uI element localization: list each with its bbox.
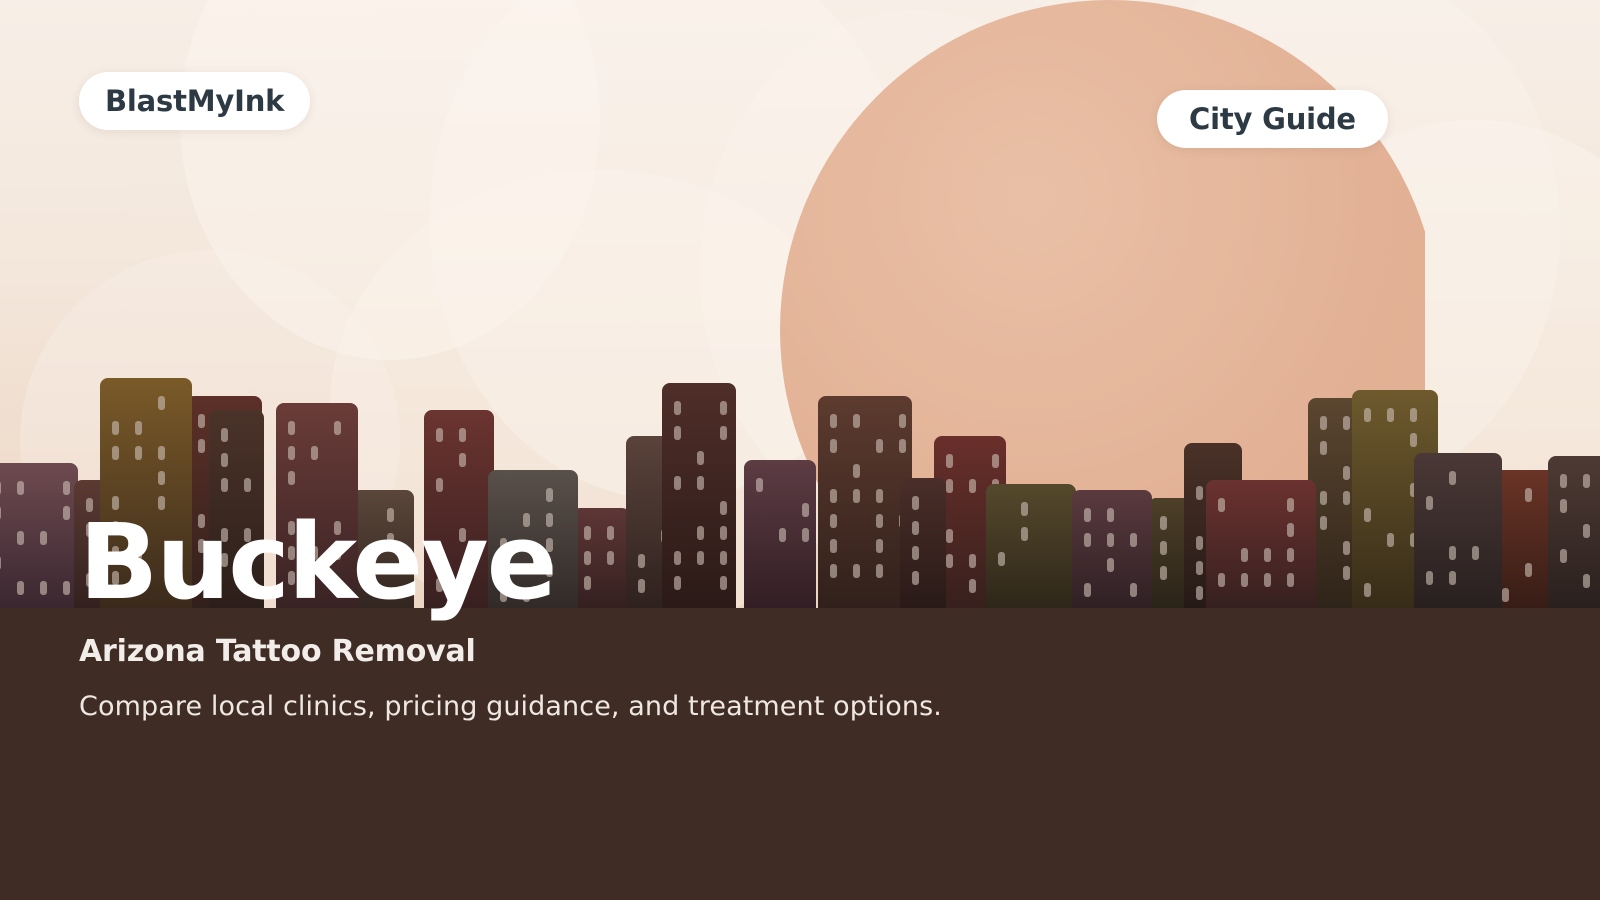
building-window bbox=[63, 481, 70, 495]
building-window bbox=[1426, 496, 1433, 510]
building-window bbox=[946, 454, 953, 468]
building-window bbox=[288, 421, 295, 435]
building-window bbox=[135, 421, 142, 435]
building-window bbox=[946, 479, 953, 493]
building-window bbox=[1449, 571, 1456, 585]
building-window bbox=[288, 471, 295, 485]
building-window bbox=[720, 401, 727, 415]
city-guide-hero-banner: BlastMyInk City Guide Buckeye Arizona Ta… bbox=[0, 0, 1600, 900]
building-window bbox=[1410, 408, 1417, 422]
building-window bbox=[459, 428, 466, 442]
building-window bbox=[1472, 546, 1479, 560]
page-title: Buckeye bbox=[79, 510, 1179, 614]
building-window bbox=[992, 454, 999, 468]
building-window bbox=[459, 453, 466, 467]
hero-text-block: Buckeye Arizona Tattoo Removal Compare l… bbox=[79, 510, 1179, 722]
building-window bbox=[969, 479, 976, 493]
building-window bbox=[1583, 524, 1590, 538]
building-window bbox=[697, 476, 704, 490]
building-window bbox=[853, 489, 860, 503]
building-window bbox=[135, 446, 142, 460]
city-guide-badge[interactable]: City Guide bbox=[1157, 90, 1388, 148]
building-window bbox=[311, 446, 318, 460]
building-window bbox=[1387, 533, 1394, 547]
building-window bbox=[830, 439, 837, 453]
building-window bbox=[1364, 408, 1371, 422]
building-window bbox=[1583, 474, 1590, 488]
building-window bbox=[112, 421, 119, 435]
building-window bbox=[436, 428, 443, 442]
building-window bbox=[697, 451, 704, 465]
building-window bbox=[17, 531, 24, 545]
building-window bbox=[1426, 571, 1433, 585]
building-window bbox=[1583, 574, 1590, 588]
building-window bbox=[1320, 491, 1327, 505]
building-window bbox=[1196, 536, 1203, 550]
building-window bbox=[853, 414, 860, 428]
building-window bbox=[1410, 433, 1417, 447]
building-window bbox=[1287, 498, 1294, 512]
building bbox=[0, 463, 78, 608]
building-window bbox=[436, 478, 443, 492]
building-window bbox=[756, 478, 763, 492]
building-window bbox=[198, 439, 205, 453]
building-window bbox=[1560, 549, 1567, 563]
building-window bbox=[1525, 488, 1532, 502]
building-window bbox=[830, 414, 837, 428]
building-window bbox=[1287, 523, 1294, 537]
building-window bbox=[674, 401, 681, 415]
building-window bbox=[912, 496, 919, 510]
building-window bbox=[899, 439, 906, 453]
building bbox=[1414, 453, 1502, 608]
building-window bbox=[1560, 499, 1567, 513]
building-window bbox=[1502, 588, 1509, 602]
brand-name-label: BlastMyInk bbox=[105, 84, 284, 118]
building-window bbox=[899, 414, 906, 428]
building-window bbox=[158, 446, 165, 460]
building-window bbox=[876, 439, 883, 453]
building-window bbox=[221, 478, 228, 492]
building-window bbox=[1241, 548, 1248, 562]
building-window bbox=[674, 476, 681, 490]
building-window bbox=[198, 414, 205, 428]
building-window bbox=[112, 446, 119, 460]
building-window bbox=[853, 464, 860, 478]
building-window bbox=[876, 489, 883, 503]
region-subtitle: Arizona Tattoo Removal bbox=[79, 634, 1179, 669]
building-window bbox=[0, 556, 1, 570]
building-window bbox=[1218, 573, 1225, 587]
brand-logo-badge[interactable]: BlastMyInk bbox=[79, 72, 310, 130]
building bbox=[1548, 456, 1600, 608]
building-window bbox=[1343, 466, 1350, 480]
building-window bbox=[546, 488, 553, 502]
building-window bbox=[158, 471, 165, 485]
building-window bbox=[1196, 586, 1203, 600]
building-window bbox=[1560, 474, 1567, 488]
building-window bbox=[674, 426, 681, 440]
building-window bbox=[1241, 573, 1248, 587]
building-window bbox=[1364, 583, 1371, 597]
building-window bbox=[1449, 546, 1456, 560]
building-window bbox=[720, 426, 727, 440]
building-window bbox=[0, 506, 1, 520]
building-window bbox=[1343, 416, 1350, 430]
building-window bbox=[1343, 541, 1350, 555]
building-window bbox=[830, 489, 837, 503]
building-window bbox=[221, 453, 228, 467]
building-window bbox=[1264, 573, 1271, 587]
building-window bbox=[1196, 486, 1203, 500]
building-window bbox=[1287, 548, 1294, 562]
building-window bbox=[1525, 563, 1532, 577]
building-window bbox=[334, 421, 341, 435]
building-window bbox=[221, 428, 228, 442]
building-window bbox=[158, 396, 165, 410]
building-window bbox=[244, 478, 251, 492]
building-window bbox=[1320, 416, 1327, 430]
building-window bbox=[1387, 408, 1394, 422]
building-window bbox=[1343, 566, 1350, 580]
building-window bbox=[40, 581, 47, 595]
building bbox=[1206, 480, 1316, 608]
building-window bbox=[1264, 548, 1271, 562]
building-window bbox=[0, 481, 1, 495]
building-window bbox=[1320, 516, 1327, 530]
building-window bbox=[63, 506, 70, 520]
building-window bbox=[1449, 471, 1456, 485]
building-window bbox=[17, 581, 24, 595]
building-window bbox=[1196, 561, 1203, 575]
building-window bbox=[288, 446, 295, 460]
building-window bbox=[1320, 441, 1327, 455]
hero-tagline: Compare local clinics, pricing guidance,… bbox=[79, 691, 1179, 722]
building-window bbox=[40, 531, 47, 545]
building-window bbox=[63, 581, 70, 595]
building-window bbox=[1218, 498, 1225, 512]
building-window bbox=[1287, 573, 1294, 587]
building-window bbox=[1364, 508, 1371, 522]
building-window bbox=[1343, 491, 1350, 505]
city-guide-label: City Guide bbox=[1189, 102, 1356, 136]
building-window bbox=[17, 481, 24, 495]
